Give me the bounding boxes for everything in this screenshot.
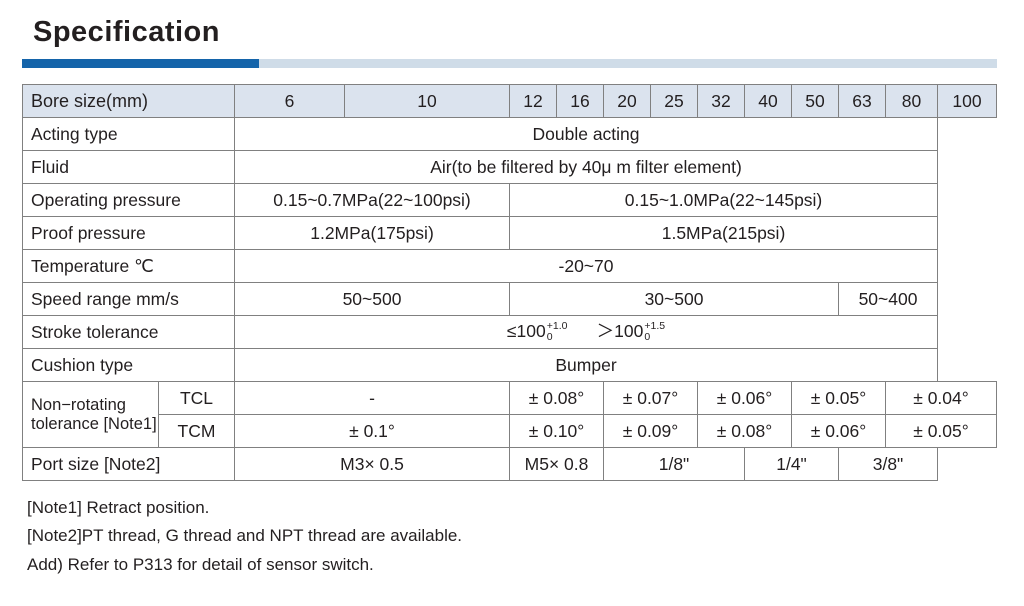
stroke-tolerance-b-sup-bottom: 0 — [644, 332, 665, 343]
bore-size-6: 6 — [235, 85, 345, 118]
row-label-port-size: Port size [Note2] — [23, 448, 235, 481]
value-tcl-2: ± 0.07° — [604, 382, 698, 415]
table-row: Non−rotating tolerance [Note1] TCL - ± 0… — [23, 382, 997, 415]
stroke-tolerance-b-base: ＞100 — [597, 321, 644, 341]
note-3: Add) Refer to P313 for detail of sensor … — [27, 552, 1024, 578]
table-row: Proof pressure 1.2MPa(175psi) 1.5MPa(215… — [23, 217, 997, 250]
row-label-operating-pressure: Operating pressure — [23, 184, 235, 217]
bore-size-20: 20 — [604, 85, 651, 118]
row-label-proof-pressure: Proof pressure — [23, 217, 235, 250]
stroke-tolerance-b-limits: +1.50 — [644, 321, 665, 343]
bore-size-header: Bore size(mm) — [23, 85, 235, 118]
row-label-cushion-type: Cushion type — [23, 349, 235, 382]
stroke-tolerance-a-base: ≤100 — [507, 321, 546, 341]
bore-size-16: 16 — [557, 85, 604, 118]
table-row: Temperature ℃ -20~70 — [23, 250, 997, 283]
value-cushion-type: Bumper — [235, 349, 938, 382]
table-row: TCM ± 0.1° ± 0.10° ± 0.09° ± 0.08° ± 0.0… — [23, 415, 997, 448]
value-operating-pressure-small: 0.15~0.7MPa(22~100psi) — [235, 184, 510, 217]
value-port-size-0: M3× 0.5 — [235, 448, 510, 481]
sub-label-tcm: TCM — [159, 415, 235, 448]
value-tcl-1: ± 0.08° — [510, 382, 604, 415]
row-label-non-rotating: Non−rotating tolerance [Note1] — [23, 382, 159, 448]
table-row: Cushion type Bumper — [23, 349, 997, 382]
value-proof-pressure-small: 1.2MPa(175psi) — [235, 217, 510, 250]
value-proof-pressure-large: 1.5MPa(215psi) — [510, 217, 938, 250]
non-rotating-label-line1: Non−rotating — [31, 396, 154, 415]
row-label-stroke-tolerance: Stroke tolerance — [23, 316, 235, 349]
row-label-acting-type: Acting type — [23, 118, 235, 151]
note-2: [Note2]PT thread, G thread and NPT threa… — [27, 523, 1024, 549]
stroke-tolerance-a-limits: +1.00 — [547, 321, 568, 343]
bore-size-32: 32 — [698, 85, 745, 118]
note-1: [Note1] Retract position. — [27, 495, 1024, 521]
bore-size-10: 10 — [345, 85, 510, 118]
value-tcl-5: ± 0.04° — [886, 382, 997, 415]
bore-size-40: 40 — [745, 85, 792, 118]
row-label-temperature: Temperature ℃ — [23, 250, 235, 283]
row-label-speed-range: Speed range mm/s — [23, 283, 235, 316]
specification-page: Specification Bore size(mm) 6 10 12 — [0, 16, 1024, 606]
value-port-size-4: 3/8" — [839, 448, 938, 481]
sub-label-tcl: TCL — [159, 382, 235, 415]
value-tcm-2: ± 0.09° — [604, 415, 698, 448]
bore-size-25: 25 — [651, 85, 698, 118]
table-row: Speed range mm/s 50~500 30~500 50~400 — [23, 283, 997, 316]
value-port-size-2: 1/8" — [604, 448, 745, 481]
table-row: Acting type Double acting — [23, 118, 997, 151]
value-speed-range-large: 50~400 — [839, 283, 938, 316]
value-tcm-5: ± 0.05° — [886, 415, 997, 448]
value-port-size-1: M5× 0.8 — [510, 448, 604, 481]
value-speed-range-small: 50~500 — [235, 283, 510, 316]
non-rotating-label-line2: tolerance [Note1] — [31, 415, 154, 434]
title-rule-accent — [22, 59, 259, 68]
value-port-size-3: 1/4" — [745, 448, 839, 481]
value-operating-pressure-large: 0.15~1.0MPa(22~145psi) — [510, 184, 938, 217]
page-title: Specification — [33, 16, 1024, 49]
value-tcm-1: ± 0.10° — [510, 415, 604, 448]
bore-size-50: 50 — [792, 85, 839, 118]
stroke-tolerance-a-sup-bottom: 0 — [547, 332, 568, 343]
value-stroke-tolerance: ≤100+1.00 ＞100+1.50 — [235, 316, 938, 349]
specification-table: Bore size(mm) 6 10 12 16 20 25 32 40 50 … — [22, 84, 997, 481]
notes-block: [Note1] Retract position. [Note2]PT thre… — [27, 495, 1024, 578]
value-tcm-4: ± 0.06° — [792, 415, 886, 448]
value-tcl-0: - — [235, 382, 510, 415]
value-acting-type: Double acting — [235, 118, 938, 151]
value-tcl-4: ± 0.05° — [792, 382, 886, 415]
table-row: Port size [Note2] M3× 0.5 M5× 0.8 1/8" 1… — [23, 448, 997, 481]
table-row: Operating pressure 0.15~0.7MPa(22~100psi… — [23, 184, 997, 217]
value-tcm-3: ± 0.08° — [698, 415, 792, 448]
value-temperature: -20~70 — [235, 250, 938, 283]
value-tcl-3: ± 0.06° — [698, 382, 792, 415]
bore-size-63: 63 — [839, 85, 886, 118]
title-rule — [22, 59, 997, 68]
value-speed-range-mid: 30~500 — [510, 283, 839, 316]
bore-size-100: 100 — [938, 85, 997, 118]
title-rule-track — [259, 59, 997, 68]
bore-size-12: 12 — [510, 85, 557, 118]
value-tcm-0: ± 0.1° — [235, 415, 510, 448]
value-fluid: Air(to be filtered by 40μ m filter eleme… — [235, 151, 938, 184]
table-row: Stroke tolerance ≤100+1.00 ＞100+1.50 — [23, 316, 997, 349]
bore-size-80: 80 — [886, 85, 938, 118]
table-row: Bore size(mm) 6 10 12 16 20 25 32 40 50 … — [23, 85, 997, 118]
table-row: Fluid Air(to be filtered by 40μ m filter… — [23, 151, 997, 184]
row-label-fluid: Fluid — [23, 151, 235, 184]
